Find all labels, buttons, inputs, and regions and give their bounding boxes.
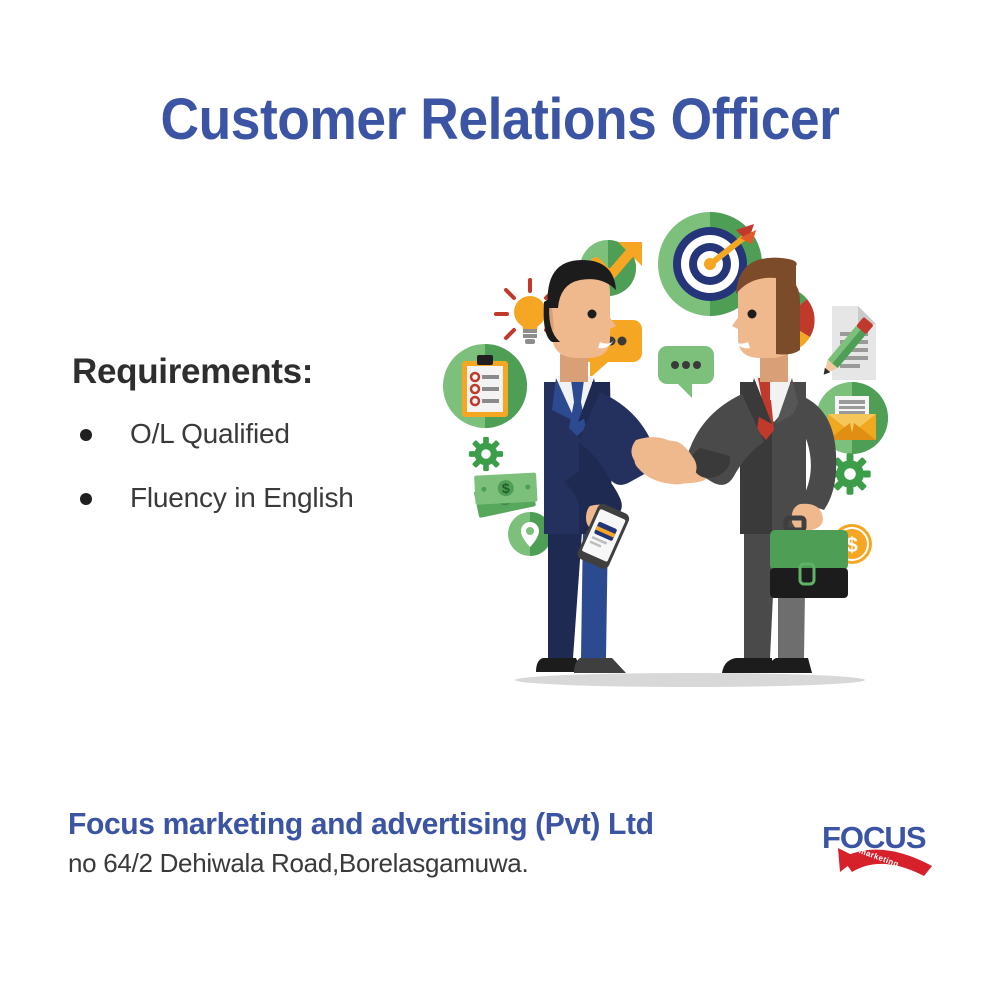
handshake-illustration: $ $ $: [440, 196, 940, 716]
document-pencil-icon: [819, 306, 876, 380]
bullet-icon: [80, 429, 92, 441]
clipboard-checklist-icon: [443, 344, 527, 428]
money-icon: $ $: [474, 473, 538, 518]
requirements-section: Requirements: O/L Qualified Fluency in E…: [72, 352, 472, 546]
footer: Focus marketing and advertising (Pvt) Lt…: [68, 806, 828, 879]
briefcase-icon: [770, 518, 848, 598]
ground-shadow: [515, 673, 865, 687]
gear-icon: [469, 437, 503, 471]
company-name: Focus marketing and advertising (Pvt) Lt…: [68, 806, 805, 842]
bullet-icon: [80, 493, 92, 505]
requirement-label: Fluency in English: [130, 482, 354, 514]
requirements-heading: Requirements:: [72, 352, 472, 392]
requirements-list: O/L Qualified Fluency in English: [72, 418, 472, 514]
list-item: O/L Qualified: [72, 418, 472, 450]
company-address: no 64/2 Dehiwala Road,Borelasgamuwa.: [68, 848, 828, 879]
list-item: Fluency in English: [72, 482, 472, 514]
speech-bubble-green-icon: [658, 346, 714, 398]
requirement-label: O/L Qualified: [130, 418, 290, 450]
svg-text:$: $: [501, 480, 510, 496]
page-title: Customer Relations Officer: [40, 86, 960, 153]
focus-logo: FOCUS marketing: [822, 816, 950, 888]
job-advert-poster: Customer Relations Officer Requirements:…: [0, 0, 1000, 1000]
